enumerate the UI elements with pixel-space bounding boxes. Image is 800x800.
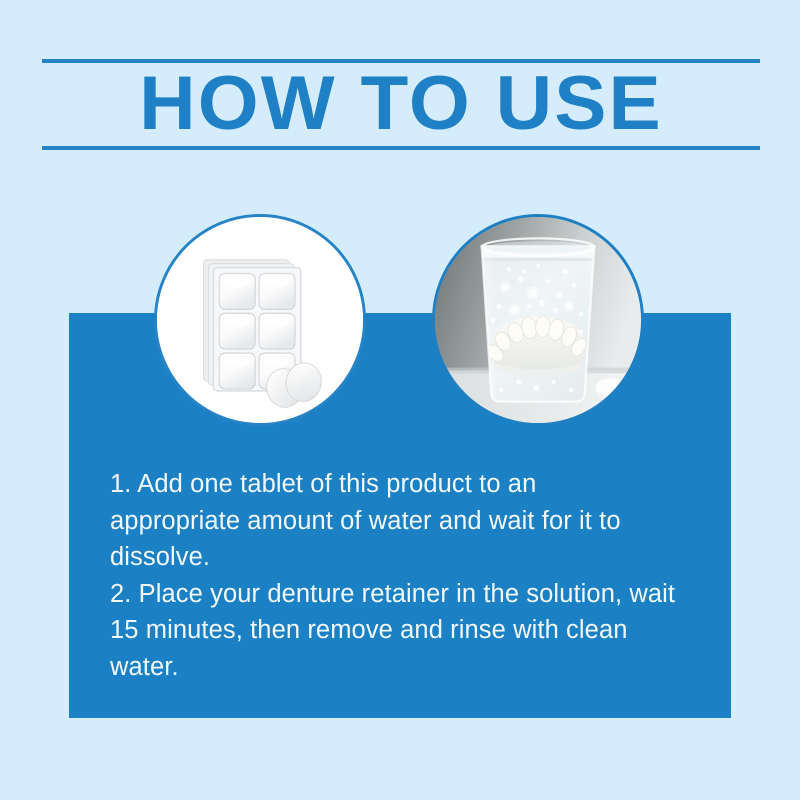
poster-root: HOW TO USE xyxy=(0,0,800,800)
instruction-line: appropriate amount of water and wait for… xyxy=(110,503,710,540)
instruction-line: 15 minutes, then remove and rinse with c… xyxy=(110,612,710,649)
page-title: HOW TO USE xyxy=(31,62,771,146)
glass-with-denture-illustration xyxy=(435,217,641,423)
instruction-line: water. xyxy=(110,649,710,686)
photo-tablet-blister-pack xyxy=(154,214,366,426)
instruction-line: dissolve. xyxy=(110,539,710,576)
instruction-line: 2. Place your denture retainer in the so… xyxy=(110,576,710,613)
header-rule-bottom xyxy=(42,146,760,150)
instruction-line: 1. Add one tablet of this product to an xyxy=(110,466,710,503)
photo-glass-with-denture xyxy=(432,214,644,426)
tablet-blister-pack-illustration xyxy=(157,217,363,423)
instructions-block: 1. Add one tablet of this product to an … xyxy=(110,466,710,685)
